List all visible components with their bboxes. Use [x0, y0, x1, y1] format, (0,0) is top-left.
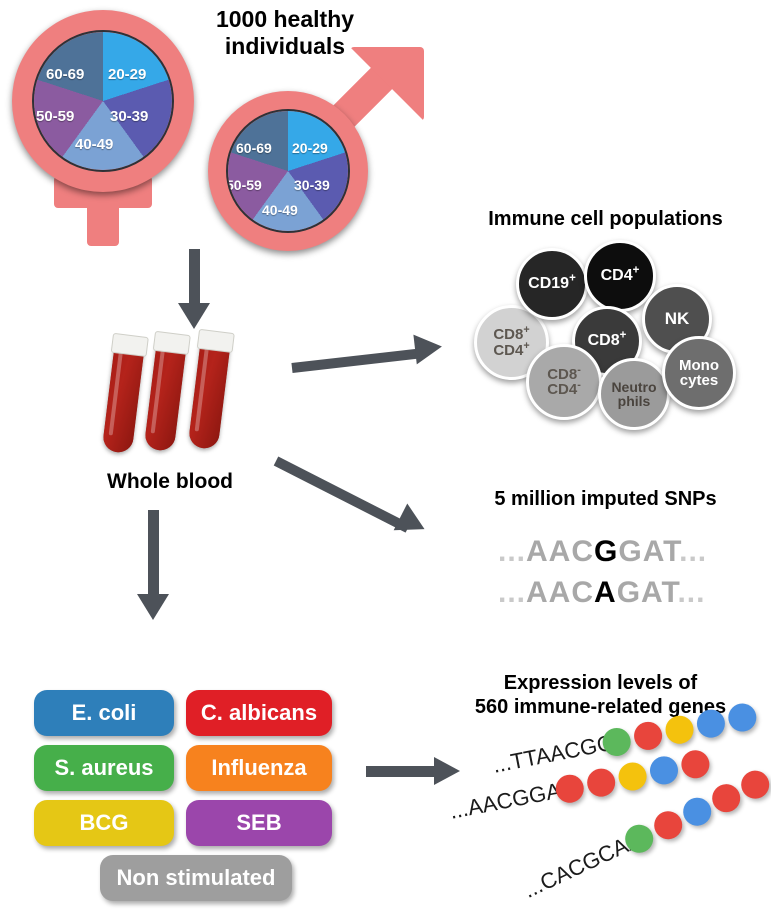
blood-tube	[188, 329, 232, 450]
cell-label: NK	[665, 310, 690, 327]
stimulus-label: BCG	[80, 810, 129, 836]
cell-cd8n-cd4n: CD8- CD4-	[526, 344, 602, 420]
snp-left: AAC	[526, 576, 594, 609]
stimulus-label: Non stimulated	[117, 865, 276, 891]
immune-cell-cluster: CD8+ CD4+ CD19+ CD4+ CD8+ NK CD8- CD4- N…	[450, 240, 771, 430]
page-title: 1000 healthyindividuals	[170, 6, 400, 60]
male-symbol: 20-29 30-39 40-49 50-59 60-69	[200, 55, 435, 255]
snp-suffix: ...	[679, 535, 707, 568]
stimulus-label: S. aureus	[54, 755, 153, 781]
snp-right: GAT	[617, 576, 678, 609]
gene-bead	[679, 748, 712, 781]
snps-section-title: 5 million imputed SNPs	[440, 488, 771, 512]
cell-label: CD4+	[601, 268, 640, 284]
snp-prefix: ...	[498, 535, 526, 568]
pie-label-50-59: 50-59	[36, 108, 74, 125]
gene-bead	[648, 754, 681, 787]
pie-label-40-49: 40-49	[75, 136, 113, 153]
stimulus-e-coli[interactable]: E. coli	[34, 690, 174, 736]
cell-label-line2: cytes	[680, 372, 718, 389]
cell-neutrophils: Neutro phils	[598, 358, 670, 430]
pie-label-40-49: 40-49	[262, 202, 298, 218]
snp-sequence-row: ...AACGGAT...	[498, 535, 707, 569]
immune-section-title: Immune cell populations	[440, 208, 771, 232]
figure-canvas: 20-29 30-39 40-49 50-59 60-69 20-29 30-3…	[0, 0, 771, 922]
female-age-pie: 20-29 30-39 40-49 50-59 60-69	[32, 30, 174, 172]
cell-label-line2: CD4+	[493, 342, 529, 359]
whole-blood-tubes	[110, 333, 290, 473]
snp-variant: G	[594, 535, 618, 568]
whole-blood-label: Whole blood	[60, 470, 280, 495]
cell-cd19p: CD19+	[516, 248, 588, 320]
pie-label-30-39: 30-39	[110, 108, 148, 125]
snp-prefix: ...	[498, 576, 526, 609]
cell-label: CD8+	[588, 333, 627, 349]
gene-bead	[585, 766, 618, 799]
pie-label-60-69: 60-69	[46, 66, 84, 83]
snp-right: GAT	[618, 535, 679, 568]
gene-bead	[650, 807, 687, 844]
stimulus-label: C. albicans	[201, 700, 317, 726]
snp-sequence-row: ...AACAGAT...	[498, 576, 705, 610]
cell-label-line2: phils	[618, 393, 651, 409]
cell-label: CD19+	[528, 276, 576, 292]
gene-bead	[616, 760, 649, 793]
stimulus-label: E. coli	[72, 700, 137, 726]
stimulus-non-stimulated[interactable]: Non stimulated	[100, 855, 292, 901]
gene-strands: ...TTAACGG ...AACGGAT ...CACGCAA	[455, 720, 771, 910]
gene-bead	[679, 793, 716, 830]
pie-label-60-69: 60-69	[236, 140, 272, 156]
cell-label-line2: CD4-	[547, 381, 581, 398]
gene-sequence-text: ...AACGGAT	[448, 776, 575, 825]
blood-tube	[102, 333, 146, 454]
snp-suffix: ...	[677, 576, 705, 609]
stimulus-s-aureus[interactable]: S. aureus	[34, 745, 174, 791]
cell-monocytes: Mono cytes	[662, 336, 736, 410]
stimulus-label: Influenza	[211, 755, 306, 781]
snp-left: AAC	[526, 535, 594, 568]
pie-label-20-29: 20-29	[292, 140, 328, 156]
pie-label-20-29: 20-29	[108, 66, 146, 83]
pie-label-50-59: 50-59	[226, 177, 262, 193]
stimulus-label: SEB	[236, 810, 281, 836]
male-age-pie: 20-29 30-39 40-49 50-59 60-69	[226, 109, 350, 233]
stimulus-c-albicans[interactable]: C. albicans	[186, 690, 332, 736]
gene-bead	[632, 719, 665, 752]
blood-tube	[144, 331, 188, 452]
stimulus-seb[interactable]: SEB	[186, 800, 332, 846]
snp-variant: A	[594, 576, 617, 609]
gene-bead	[737, 766, 771, 803]
pie-label-30-39: 30-39	[294, 177, 330, 193]
gene-bead	[708, 780, 745, 817]
stimulus-bcg[interactable]: BCG	[34, 800, 174, 846]
cell-cd4p: CD4+	[584, 240, 656, 312]
stimulus-influenza[interactable]: Influenza	[186, 745, 332, 791]
